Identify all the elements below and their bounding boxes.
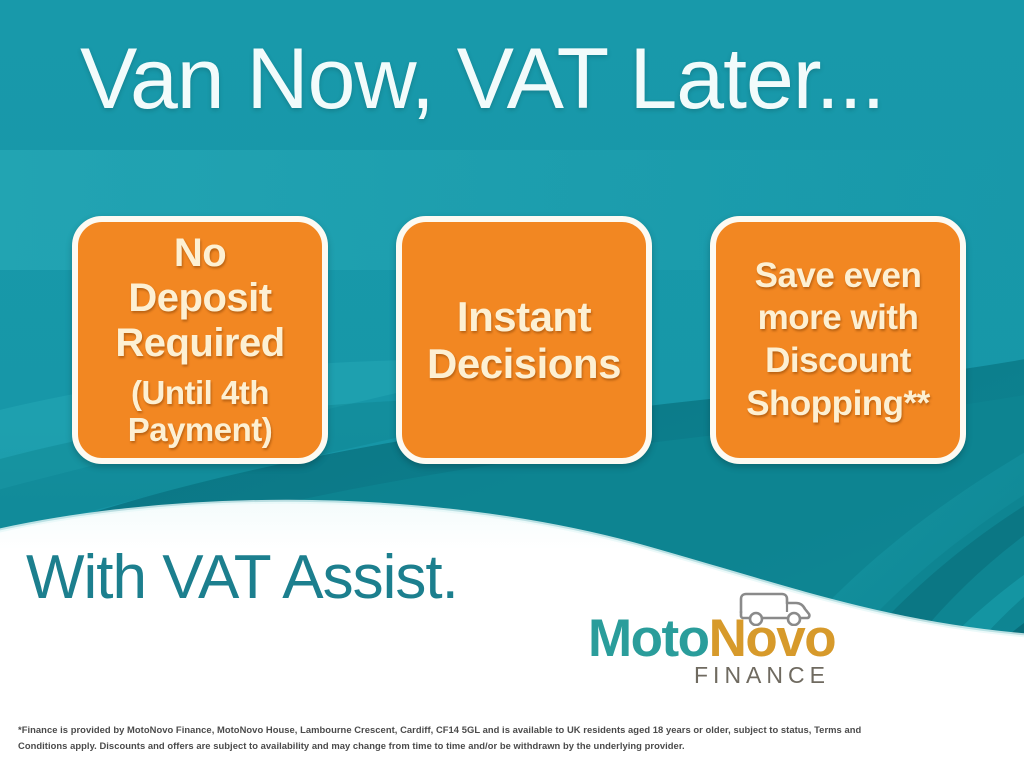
card-title-line: Shopping** [746, 384, 930, 423]
feature-card-group: No Deposit Required (Until 4th Payment) … [0, 216, 1024, 466]
feature-card-instant-decisions[interactable]: Instant Decisions [396, 216, 652, 464]
logo-subtext-finance: FINANCE [694, 662, 830, 689]
logo-wordmark: MotoNovo [588, 612, 835, 665]
advertisement-canvas: Van Now, VAT Later... No Deposit Require… [0, 0, 1024, 768]
logo-word-novo: Novo [709, 609, 836, 668]
logo-word-moto: Moto [588, 609, 709, 668]
card-title-line: Decisions [427, 340, 621, 387]
disclaimer-line-2: Conditions apply. Discounts and offers a… [18, 738, 966, 754]
feature-card-title: No Deposit Required [115, 231, 284, 365]
tagline: With VAT Assist. [26, 547, 458, 609]
page-title: Van Now, VAT Later... [80, 36, 980, 124]
card-subtitle-line: (Until 4th [131, 374, 269, 411]
card-subtitle-line: Payment) [128, 411, 273, 448]
card-title-line: Required [115, 321, 284, 365]
feature-card-subtitle: (Until 4th Payment) [128, 375, 273, 449]
feature-card-title: Instant Decisions [427, 293, 621, 387]
card-title-line: more with [758, 298, 919, 337]
card-title-line: No [174, 231, 226, 275]
legal-disclaimer: *Finance is provided by MotoNovo Finance… [18, 722, 966, 753]
feature-card-title: Save even more with Discount Shopping** [746, 255, 930, 426]
card-title-line: Save even [755, 256, 922, 295]
disclaimer-line-1: *Finance is provided by MotoNovo Finance… [18, 722, 966, 738]
card-title-line: Deposit [128, 276, 271, 320]
brand-logo: MotoNovo FINANCE [588, 586, 828, 696]
feature-card-discount-shopping[interactable]: Save even more with Discount Shopping** [710, 216, 966, 464]
feature-card-no-deposit[interactable]: No Deposit Required (Until 4th Payment) [72, 216, 328, 464]
card-title-line: Discount [765, 341, 911, 380]
card-title-line: Instant [457, 293, 591, 340]
